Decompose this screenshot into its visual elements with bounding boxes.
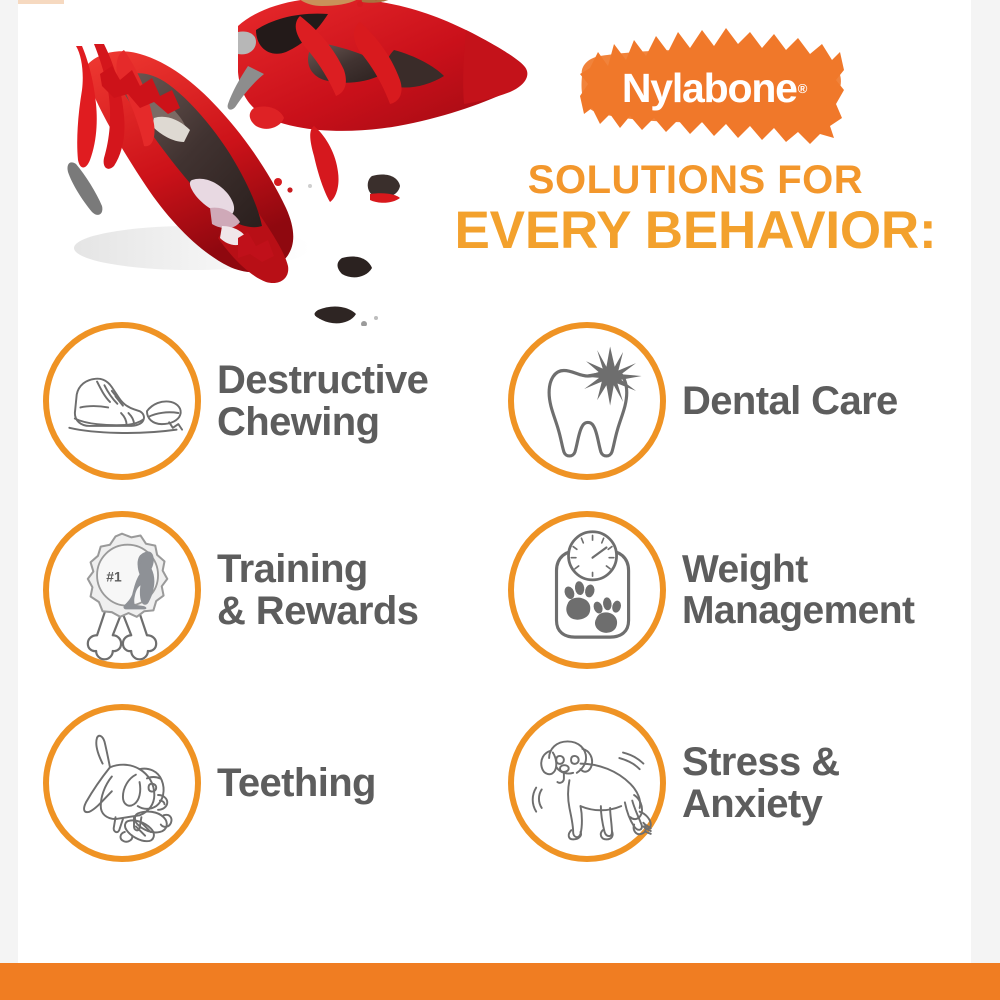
nylabone-logo: Nylabone® — [578, 22, 846, 150]
feature-icon-circle — [43, 704, 201, 862]
feature-label: Training & Rewards — [217, 548, 418, 633]
feature-training-rewards[interactable]: #1 Training & Rewards — [43, 511, 418, 669]
headline-block: SOLUTIONS FOR EVERY BEHAVIOR: — [438, 160, 953, 257]
bottom-orange-bar — [0, 963, 1000, 1000]
feature-dental-care[interactable]: Dental Care — [508, 322, 898, 480]
paw-scale-icon — [514, 517, 660, 663]
feature-icon-circle — [508, 511, 666, 669]
feature-label: Dental Care — [682, 380, 898, 422]
headline-line-1: SOLUTIONS FOR — [438, 160, 953, 200]
chewed-shoe-icon — [49, 328, 195, 474]
feature-label: Weight Management — [682, 549, 914, 632]
feature-icon-circle — [508, 704, 666, 862]
content-card: Nylabone® SOLUTIONS FOR EVERY BEHAVIOR: — [18, 0, 971, 963]
logo-text-label: Nylabone — [622, 65, 797, 112]
feature-label: Teething — [217, 762, 376, 804]
sparkling-tooth-icon — [514, 328, 660, 474]
feature-stress-anxiety[interactable]: Stress & Anxiety — [508, 704, 840, 862]
feature-teething[interactable]: Teething — [43, 704, 376, 862]
feature-weight-management[interactable]: Weight Management — [508, 511, 914, 669]
page-root: Nylabone® SOLUTIONS FOR EVERY BEHAVIOR: — [0, 0, 1000, 1000]
feature-grid: Destructive Chewing Dental Care — [18, 318, 971, 898]
shaking-dog-icon — [514, 710, 660, 856]
feature-icon-circle — [43, 322, 201, 480]
badge-number-text: #1 — [106, 569, 122, 585]
logo-wordmark: Nylabone® — [580, 24, 848, 152]
puppy-chewing-icon — [49, 710, 195, 856]
feature-label: Stress & Anxiety — [682, 741, 840, 826]
feature-label: Destructive Chewing — [217, 359, 428, 444]
registered-trademark-icon: ® — [798, 81, 806, 96]
feature-icon-circle — [508, 322, 666, 480]
feature-destructive-chewing[interactable]: Destructive Chewing — [43, 322, 428, 480]
feature-icon-circle: #1 — [43, 511, 201, 669]
headline-line-2: EVERY BEHAVIOR: — [438, 204, 953, 257]
award-badge-dog-icon: #1 — [49, 517, 195, 663]
